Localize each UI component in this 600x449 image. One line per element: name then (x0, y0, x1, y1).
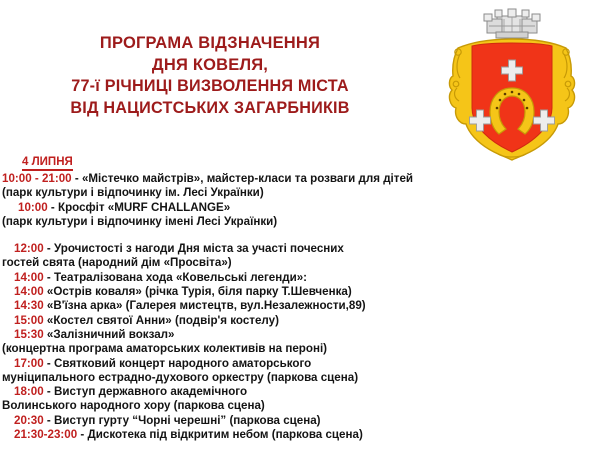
schedule-dash: - (47, 385, 51, 398)
schedule-dash: - (47, 414, 51, 427)
schedule-dash: - (80, 428, 84, 441)
schedule-dash: - (47, 271, 51, 284)
title-line-4: ВІД НАЦИСТСЬКИХ ЗАГАРБНИКІВ (0, 98, 420, 120)
coat-of-arms-of-kovel (432, 4, 592, 164)
schedule-time: 12:00 (14, 242, 44, 255)
title-line-3: 77-ї РІЧНИЦІ ВИЗВОЛЕННЯ МІСТА (0, 76, 420, 98)
list-item: 14:00 - Театралізована хода «Ковельські … (0, 271, 600, 285)
schedule-list: 10:00 - 21:00 - «Містечко майстрів», май… (0, 172, 600, 442)
list-item-venue: (концертна програма аматорських колектив… (0, 342, 600, 356)
mural-crown-icon (484, 9, 540, 38)
schedule-text-cont: гостей свята (народний дім «Просвіта») (2, 256, 232, 269)
schedule-dash: - (51, 201, 55, 214)
schedule-time: 14:00 (14, 271, 44, 284)
section-spacer (0, 229, 600, 242)
schedule-time: 20:30 (14, 414, 44, 427)
schedule-text: Виступ державного академічного (54, 385, 247, 398)
schedule-text: «В'їзна арка» (Галерея мистецтв, вул.Нез… (47, 299, 366, 312)
poster-root: ПРОГРАМА ВІДЗНАЧЕННЯ ДНЯ КОВЕЛЯ, 77-ї РІ… (0, 0, 600, 449)
schedule-dash: - (47, 242, 51, 255)
list-item-venue: (парк культури і відпочинку ім. Лесі Укр… (0, 186, 600, 200)
schedule-time: 14:30 (14, 299, 44, 312)
schedule-dash: - (75, 172, 79, 185)
coat-of-arms-svg (432, 4, 592, 164)
schedule-text: Виступ гурту “Чорні черешні” (паркова сц… (54, 414, 321, 427)
date-label: 4 ЛИПНЯ (22, 155, 73, 171)
schedule-time: 21:30-23:00 (14, 428, 77, 441)
schedule-time: 17:00 (14, 357, 44, 370)
schedule-time: 10:00 - 21:00 (2, 172, 72, 185)
schedule-text: Урочистості з нагоди Дня міста за участі… (54, 242, 344, 255)
schedule-venue: (парк культури і відпочинку імені Лесі У… (2, 215, 277, 228)
list-item-cont: Волинського народного хору (паркова сцен… (0, 399, 600, 413)
title-line-1: ПРОГРАМА ВІДЗНАЧЕННЯ (0, 33, 420, 55)
list-item: 14:30 «В'їзна арка» (Галерея мистецтв, в… (0, 299, 600, 313)
schedule-text: Дискотека під відкритим небом (паркова с… (88, 428, 363, 441)
list-item: 10:00 - 21:00 - «Містечко майстрів», май… (0, 172, 600, 186)
list-item-venue: (парк культури і відпочинку імені Лесі У… (0, 215, 600, 229)
date-label-wrap: 4 ЛИПНЯ (0, 152, 600, 171)
schedule-text: «Острів коваля» (річка Турія, біля парку… (47, 285, 352, 298)
list-item: 10:00 - Кросфіт «MURF CHALLANGE» (0, 201, 600, 215)
schedule-time: 15:30 (14, 328, 44, 341)
list-item-cont: муніципального естрадно-духового оркестр… (0, 371, 600, 385)
list-item: 21:30-23:00 - Дискотека під відкритим не… (0, 428, 600, 442)
list-item-cont: гостей свята (народний дім «Просвіта») (0, 256, 600, 270)
schedule-time: 10:00 (18, 201, 48, 214)
list-item: 18:00 - Виступ державного академічного (0, 385, 600, 399)
schedule-time: 15:00 (14, 314, 44, 327)
schedule-text-cont: муніципального естрадно-духового оркестр… (2, 371, 358, 384)
schedule-dash: - (47, 357, 51, 370)
poster-header: ПРОГРАМА ВІДЗНАЧЕННЯ ДНЯ КОВЕЛЯ, 77-ї РІ… (0, 0, 600, 152)
schedule-text: «Костел святої Анни» (подвір'я костелу) (47, 314, 279, 327)
list-item: 12:00 - Урочистості з нагоди Дня міста з… (0, 242, 600, 256)
schedule-text: Святковий концерт народного аматорського (54, 357, 311, 370)
schedule-venue: (концертна програма аматорських колектив… (2, 342, 327, 355)
schedule-venue: (парк культури і відпочинку ім. Лесі Укр… (2, 186, 264, 199)
schedule-text: «Містечко майстрів», майстер-класи та ро… (82, 172, 413, 185)
list-item: 14:00 «Острів коваля» (річка Турія, біля… (0, 285, 600, 299)
schedule-text: Кросфіт «MURF CHALLANGE» (58, 201, 230, 214)
list-item: 15:30 «Залізничний вокзал» (0, 328, 600, 342)
list-item: 15:00 «Костел святої Анни» (подвір'я кос… (0, 314, 600, 328)
list-item: 17:00 - Святковий концерт народного амат… (0, 357, 600, 371)
program-body: 4 ЛИПНЯ 10:00 - 21:00 - «Містечко майстр… (0, 152, 600, 442)
list-item: 20:30 - Виступ гурту “Чорні черешні” (па… (0, 414, 600, 428)
schedule-text-cont: Волинського народного хору (паркова сцен… (2, 399, 265, 412)
title-line-2: ДНЯ КОВЕЛЯ, (0, 55, 420, 77)
schedule-text: «Залізничний вокзал» (47, 328, 175, 341)
page-title: ПРОГРАМА ВІДЗНАЧЕННЯ ДНЯ КОВЕЛЯ, 77-ї РІ… (0, 33, 420, 119)
schedule-time: 18:00 (14, 385, 44, 398)
schedule-text: Театралізована хода «Ковельські легенди»… (54, 271, 307, 284)
schedule-time: 14:00 (14, 285, 44, 298)
